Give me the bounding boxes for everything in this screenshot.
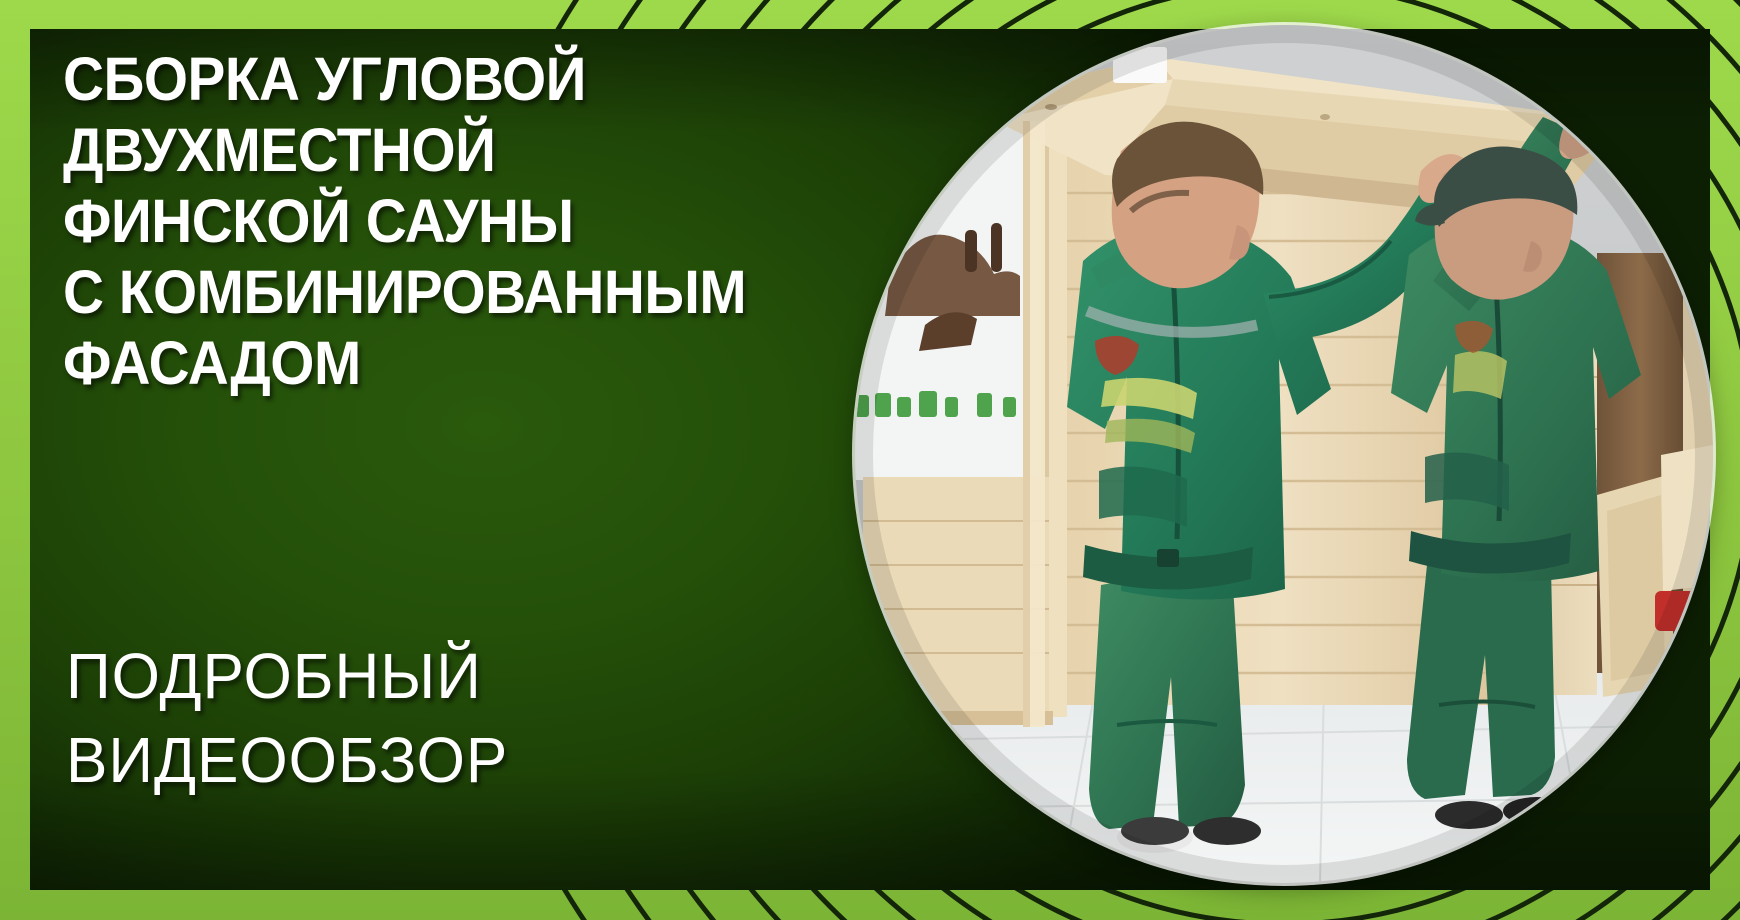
photo-circle (855, 25, 1713, 883)
banner-canvas: СБОРКА УГЛОВОЙ ДВУХМЕСТНОЙ ФИНСКОЙ САУНЫ… (0, 0, 1740, 920)
photo-illustration (855, 25, 1713, 883)
subtitle: ПОДРОБНЫЙ ВИДЕООБЗОР (66, 634, 823, 802)
page-title: СБОРКА УГЛОВОЙ ДВУХМЕСТНОЙ ФИНСКОЙ САУНЫ… (63, 44, 770, 399)
